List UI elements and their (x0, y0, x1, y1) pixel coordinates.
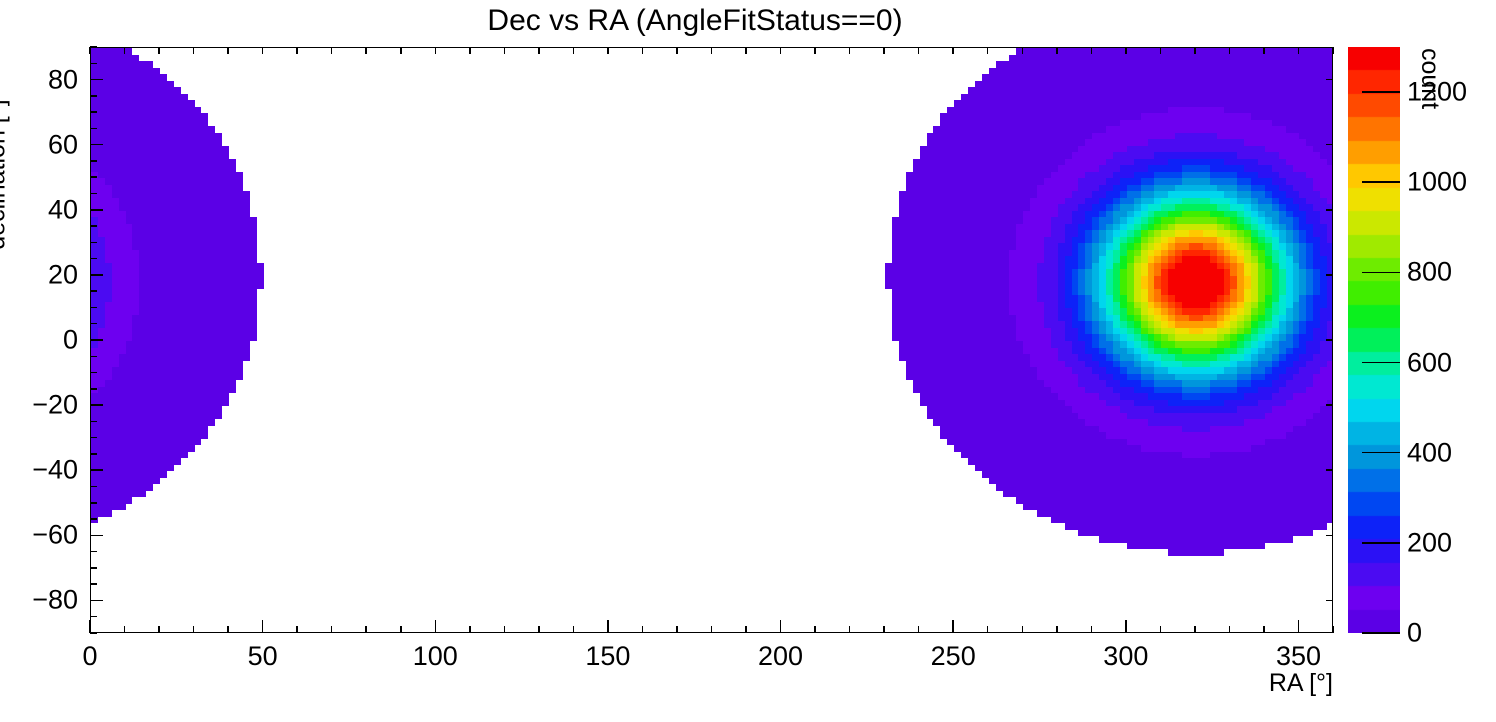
y-tick-major (90, 79, 103, 81)
y-tick-major (90, 404, 103, 406)
y-tick-minor (90, 225, 97, 227)
color-scale-bar[interactable] (1348, 47, 1400, 633)
x-tick-major (262, 620, 264, 633)
x-tick-label: 350 (1276, 641, 1321, 672)
x-tick-minor (400, 626, 402, 633)
x-tick-minor (1022, 626, 1024, 633)
x-tick-minor (1194, 626, 1196, 633)
y-tick-label: 20 (0, 259, 78, 290)
x-tick-minor (814, 47, 816, 54)
x-tick-label: 0 (82, 641, 97, 672)
y-tick-major-right (1326, 274, 1333, 276)
z-tick-label: 1000 (1407, 167, 1467, 198)
y-tick-major-right (1326, 209, 1333, 211)
x-tick-minor (504, 626, 506, 633)
x-tick-minor (365, 626, 367, 633)
y-tick-minor (90, 518, 97, 520)
y-tick-major-right (1326, 79, 1333, 81)
z-tick-label: 0 (1407, 618, 1422, 649)
x-tick-minor (1332, 47, 1334, 54)
x-tick-minor (158, 47, 160, 54)
x-tick-major-top (89, 47, 91, 54)
root-canvas: Dec vs RA (AngleFitStatus==0) 0501001502… (0, 0, 1496, 722)
y-tick-major-right (1326, 469, 1333, 471)
x-tick-minor (538, 626, 540, 633)
x-tick-label: 300 (1103, 641, 1148, 672)
x-tick-minor (642, 626, 644, 633)
x-tick-minor (1091, 626, 1093, 633)
x-tick-minor (1229, 626, 1231, 633)
x-tick-minor (1022, 47, 1024, 54)
plot-frame[interactable] (90, 47, 1333, 633)
y-tick-major-right (1326, 144, 1333, 146)
x-tick-major-top (607, 47, 609, 54)
x-axis-title: RA [°] (1269, 669, 1333, 698)
y-tick-minor (90, 307, 97, 309)
y-tick-minor (90, 242, 97, 244)
x-tick-major-top (435, 47, 437, 54)
y-tick-label: −40 (0, 455, 78, 486)
y-tick-minor (90, 551, 97, 553)
y-tick-major (90, 535, 103, 537)
x-tick-minor (1194, 47, 1196, 54)
z-tick-label: 200 (1407, 527, 1452, 558)
x-tick-major-top (1125, 47, 1127, 54)
color-scale-title: count (1415, 48, 1444, 109)
x-tick-major-top (780, 47, 782, 54)
z-tick-label: 800 (1407, 257, 1452, 288)
x-tick-minor (331, 47, 333, 54)
x-tick-minor (1056, 47, 1058, 54)
x-tick-minor (987, 626, 989, 633)
y-tick-minor (90, 486, 97, 488)
x-tick-minor (296, 47, 298, 54)
x-tick-minor (1229, 47, 1231, 54)
x-tick-minor (1160, 47, 1162, 54)
x-tick-minor (676, 626, 678, 633)
x-tick-minor (711, 47, 713, 54)
y-tick-minor (90, 616, 97, 618)
y-tick-minor (90, 63, 97, 65)
x-tick-major (780, 620, 782, 633)
z-tick (1362, 181, 1400, 183)
y-tick-minor (90, 323, 97, 325)
x-tick-minor (193, 47, 195, 54)
y-tick-label: −20 (0, 390, 78, 421)
x-tick-minor (227, 47, 229, 54)
x-tick-minor (158, 626, 160, 633)
x-tick-minor (642, 47, 644, 54)
x-tick-minor (711, 626, 713, 633)
x-tick-minor (918, 47, 920, 54)
y-tick-minor (90, 502, 97, 504)
x-tick-minor (227, 626, 229, 633)
y-tick-label: 0 (0, 325, 78, 356)
z-tick-label: 400 (1407, 437, 1452, 468)
y-tick-minor (90, 388, 97, 390)
x-tick-minor (1160, 626, 1162, 633)
x-tick-minor (745, 47, 747, 54)
x-tick-minor (883, 47, 885, 54)
x-tick-major (1298, 620, 1300, 633)
x-tick-major (435, 620, 437, 633)
x-tick-minor (1263, 47, 1265, 54)
x-tick-minor (296, 626, 298, 633)
x-tick-major-top (262, 47, 264, 54)
x-tick-major-top (1298, 47, 1300, 54)
x-tick-minor (124, 626, 126, 633)
x-tick-minor (124, 47, 126, 54)
y-tick-minor (90, 290, 97, 292)
x-tick-minor (745, 626, 747, 633)
y-tick-minor (90, 193, 97, 195)
y-tick-label: −60 (0, 520, 78, 551)
x-tick-minor (504, 47, 506, 54)
x-tick-major (952, 620, 954, 633)
y-tick-minor (90, 128, 97, 130)
y-tick-minor (90, 583, 97, 585)
x-tick-minor (193, 626, 195, 633)
z-tick (1362, 272, 1400, 274)
y-tick-label: 40 (0, 194, 78, 225)
y-tick-minor (90, 453, 97, 455)
x-tick-minor (365, 47, 367, 54)
y-tick-minor (90, 160, 97, 162)
x-tick-major-top (952, 47, 954, 54)
y-tick-label: −80 (0, 585, 78, 616)
histogram-canvas[interactable] (91, 48, 1333, 633)
y-tick-minor (90, 111, 97, 113)
y-tick-major (90, 209, 103, 211)
x-tick-label: 50 (248, 641, 278, 672)
x-tick-major (89, 620, 91, 633)
x-tick-minor (469, 47, 471, 54)
x-tick-minor (849, 47, 851, 54)
x-tick-minor (1056, 626, 1058, 633)
x-tick-minor (331, 626, 333, 633)
x-tick-label: 150 (585, 641, 630, 672)
z-tick-label: 600 (1407, 347, 1452, 378)
y-tick-minor (90, 372, 97, 374)
y-tick-minor (90, 567, 97, 569)
y-tick-label: 80 (0, 64, 78, 95)
x-tick-minor (573, 626, 575, 633)
y-tick-minor (90, 356, 97, 358)
z-tick (1362, 542, 1400, 544)
y-axis-title: declination [°] (0, 99, 12, 249)
page-title: Dec vs RA (AngleFitStatus==0) (0, 4, 1390, 38)
x-tick-minor (1091, 47, 1093, 54)
y-tick-major (90, 339, 103, 341)
x-tick-label: 250 (931, 641, 976, 672)
z-tick (1362, 632, 1400, 634)
z-tick (1362, 91, 1400, 93)
x-tick-major (1125, 620, 1127, 633)
x-tick-minor (676, 47, 678, 54)
y-tick-minor (90, 258, 97, 260)
x-tick-minor (883, 626, 885, 633)
y-tick-label: 60 (0, 129, 78, 160)
y-tick-major-right (1326, 535, 1333, 537)
x-tick-minor (400, 47, 402, 54)
x-tick-label: 200 (758, 641, 803, 672)
x-tick-minor (538, 47, 540, 54)
y-tick-major (90, 600, 103, 602)
y-tick-major (90, 274, 103, 276)
y-tick-minor (90, 632, 97, 634)
y-tick-minor (90, 437, 97, 439)
x-tick-minor (573, 47, 575, 54)
x-tick-minor (918, 626, 920, 633)
x-tick-minor (469, 626, 471, 633)
y-tick-minor (90, 95, 97, 97)
y-tick-major (90, 144, 103, 146)
y-tick-major-right (1326, 404, 1333, 406)
x-tick-minor (849, 626, 851, 633)
z-tick (1362, 362, 1400, 364)
y-tick-minor (90, 421, 97, 423)
x-tick-label: 100 (413, 641, 458, 672)
x-tick-minor (1263, 626, 1265, 633)
x-tick-major (607, 620, 609, 633)
z-tick (1362, 452, 1400, 454)
color-scale-canvas (1348, 47, 1400, 633)
y-tick-major (90, 469, 103, 471)
x-tick-minor (987, 47, 989, 54)
y-tick-major-right (1326, 339, 1333, 341)
y-tick-minor (90, 46, 97, 48)
x-tick-minor (814, 626, 816, 633)
x-tick-minor (1332, 626, 1334, 633)
y-tick-major-right (1326, 600, 1333, 602)
y-tick-minor (90, 176, 97, 178)
